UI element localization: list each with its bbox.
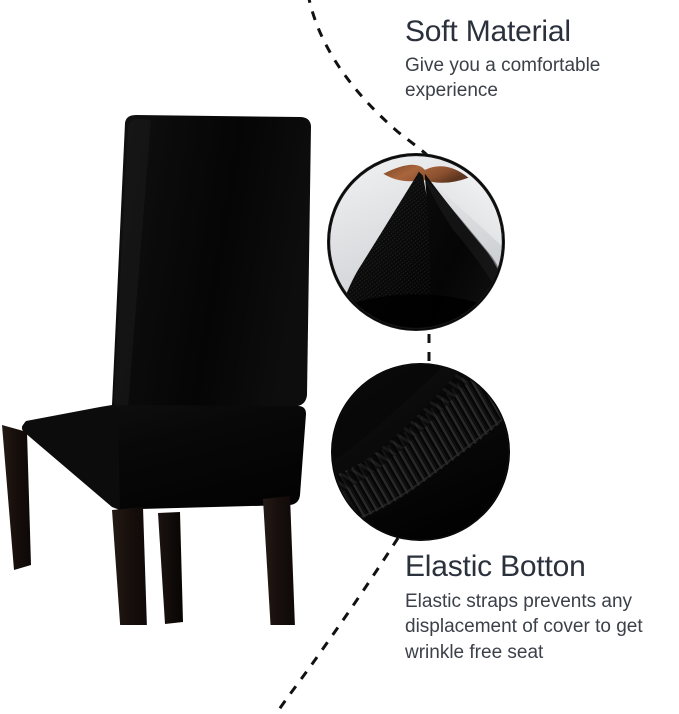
chair-illustration (0, 95, 320, 625)
chair-leg-rear-right (263, 496, 297, 625)
chair-leg-front-right (112, 507, 150, 625)
feature-title-soft-material: Soft Material (405, 14, 673, 49)
chair-leg-front-left (2, 425, 31, 570)
fabric-texture-photo (328, 154, 504, 330)
elastic-hem-photo (331, 363, 510, 541)
chair-product-photo (0, 95, 320, 625)
detail-circle-elastic-hem (331, 363, 510, 541)
feature-body-soft-material: Give you a comfortable experience (405, 54, 673, 103)
chair-leg-rear-middle (158, 512, 183, 624)
product-infographic: Soft Material Give you a comfortable exp… (0, 0, 679, 714)
feature-block-soft-material: Soft Material Give you a comfortable exp… (405, 14, 673, 103)
feature-title-elastic-bottom: Elastic Botton (405, 549, 677, 584)
detail-circle-fabric-texture (327, 153, 505, 331)
feature-block-elastic-bottom: Elastic Botton Elastic straps prevents a… (405, 549, 677, 665)
feature-body-elastic-bottom: Elastic straps prevents any displacement… (405, 589, 677, 664)
seat-left-corner (22, 407, 120, 510)
